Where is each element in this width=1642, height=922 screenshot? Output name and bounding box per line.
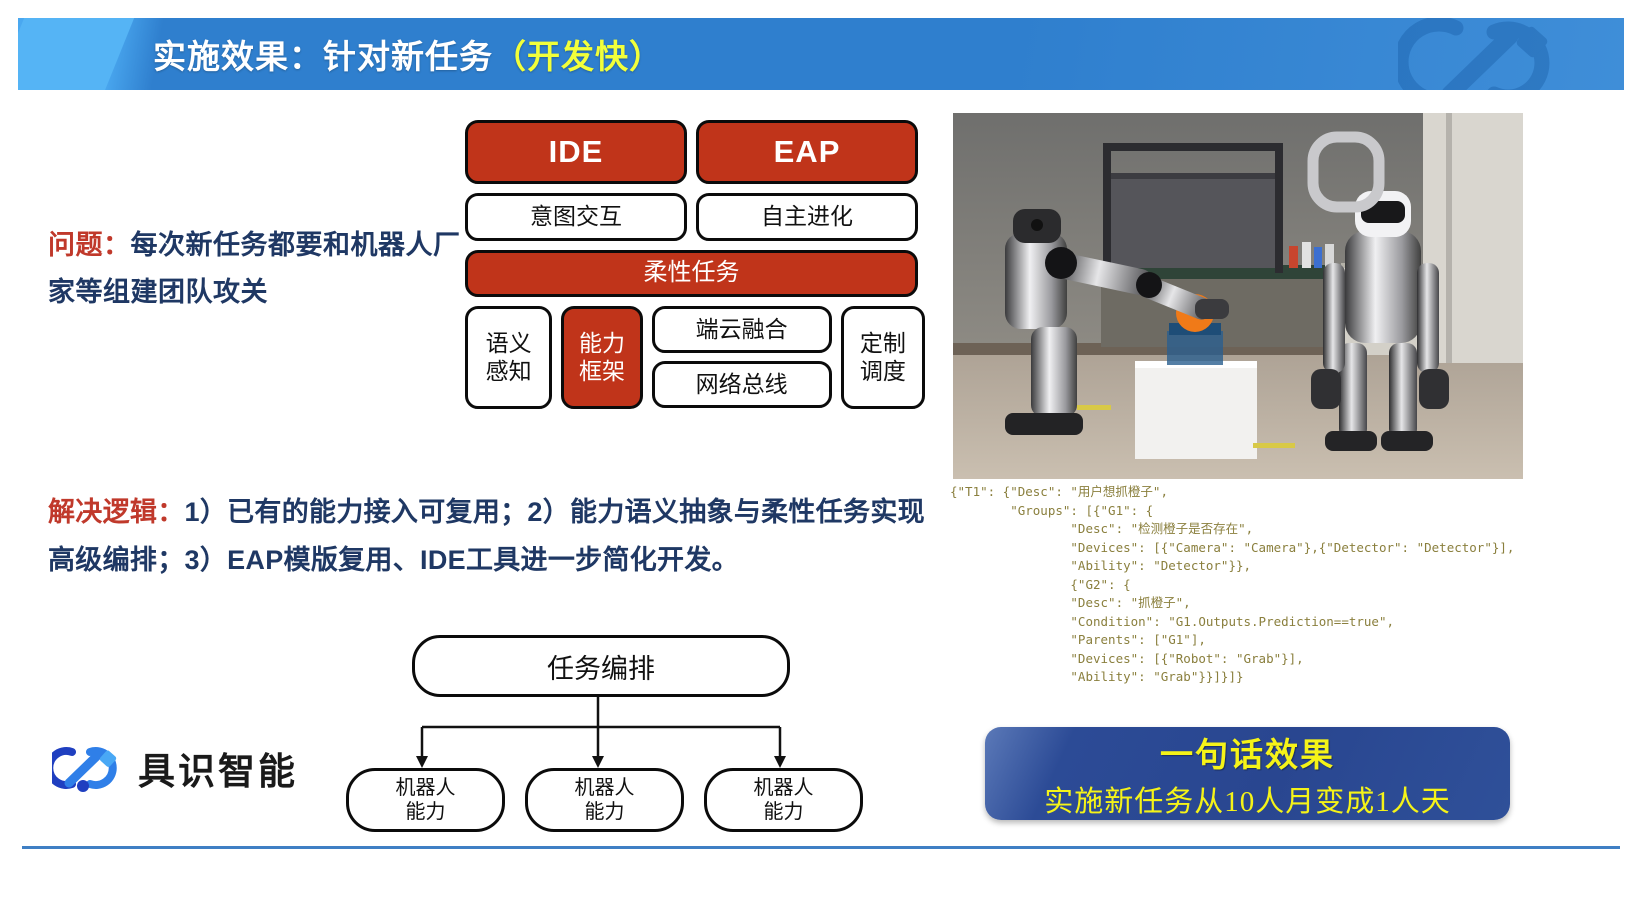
flow-node-robot-ability-1[interactable]: 机器人 能力	[346, 768, 505, 832]
flow-node-robot-ability-3[interactable]: 机器人 能力	[704, 768, 863, 832]
architecture-row-interaction: 意图交互 自主进化	[465, 193, 925, 241]
code-line: "Devices": [{"Robot": "Grab"}],	[950, 651, 1304, 666]
arch-cell-edge-cloud-fusion[interactable]: 端云融合	[652, 306, 832, 353]
brand-swirl-icon	[52, 740, 124, 796]
flow-node-robot-ability-2[interactable]: 机器人 能力	[525, 768, 684, 832]
solution-label: 解决逻辑：	[48, 497, 185, 527]
arch-cell-custom-scheduling[interactable]: 定制 调度	[841, 306, 925, 409]
brand-swirl-icon	[1398, 18, 1598, 90]
problem-label: 问题：	[48, 230, 131, 260]
arch-cell-eap[interactable]: EAP	[696, 120, 918, 184]
code-line: "Parents": ["G1"],	[950, 632, 1206, 647]
callout-subtitle: 实施新任务从10人月变成1人天	[1044, 778, 1451, 820]
page-title-main: 实施效果：针对新任务	[153, 38, 493, 75]
logo-text: 具识智能	[138, 741, 298, 795]
code-line: "Devices": [{"Camera": "Camera"},{"Detec…	[950, 540, 1514, 555]
arch-subcolumn-network: 端云融合 网络总线	[652, 306, 832, 409]
code-line: "Ability": "Detector"}},	[950, 558, 1251, 573]
page-title-highlight: （开发快）	[493, 38, 663, 75]
arch-cell-ide[interactable]: IDE	[465, 120, 687, 184]
task-json-code-block: {"T1": {"Desc": "用户想抓橙子", "Groups": [{"G…	[950, 483, 1550, 687]
problem-statement: 问题：每次新任务都要和机器人厂家等组建团队攻关	[48, 222, 478, 317]
architecture-row-tools: IDE EAP	[465, 120, 925, 184]
footer-divider	[22, 846, 1620, 849]
result-callout-badge: 一句话效果 实施新任务从10人月变成1人天	[985, 727, 1510, 820]
code-line: "Groups": [{"G1": {	[950, 503, 1153, 518]
solution-statement: 解决逻辑：1）已有的能力接入可复用；2）能力语义抽象与柔性任务实现高级编排；3）…	[48, 488, 948, 584]
arch-cell-semantic-perception[interactable]: 语义 感知	[465, 306, 552, 409]
code-line: "Desc": "抓橙子",	[950, 595, 1191, 610]
code-line: "Desc": "检测橙子是否存在",	[950, 521, 1253, 536]
arch-cell-intent-interaction[interactable]: 意图交互	[465, 193, 687, 241]
company-logo: 具识智能	[52, 740, 298, 796]
task-orchestration-flowchart: 任务编排 机器人 能力 机器人 能力 机器人 能力	[330, 605, 890, 805]
callout-title: 一句话效果	[1160, 728, 1335, 776]
header-banner: 实施效果：针对新任务（开发快）	[18, 18, 1624, 90]
architecture-row-foundation: 语义 感知 能力 框架 端云融合 网络总线 定制 调度	[465, 306, 925, 409]
arch-cell-network-bus[interactable]: 网络总线	[652, 361, 832, 408]
code-line: {"G2": {	[950, 577, 1131, 592]
architecture-diagram: IDE EAP 意图交互 自主进化 柔性任务 语义 感知 能力 框架 端云融合 …	[465, 120, 925, 418]
flow-node-task-orchestration[interactable]: 任务编排	[412, 635, 790, 697]
page-title: 实施效果：针对新任务（开发快）	[153, 30, 663, 78]
code-line: "Ability": "Grab"}}]}]}	[950, 669, 1244, 684]
arch-cell-flexible-task[interactable]: 柔性任务	[465, 250, 918, 297]
robot-demo-photo	[953, 113, 1523, 479]
architecture-row-flexible-task: 柔性任务	[465, 250, 925, 297]
arch-cell-ability-framework[interactable]: 能力 框架	[561, 306, 642, 409]
code-line: "Condition": "G1.Outputs.Prediction==tru…	[950, 614, 1394, 629]
arch-cell-self-evolution[interactable]: 自主进化	[696, 193, 918, 241]
code-line: {"T1": {"Desc": "用户想抓橙子",	[950, 484, 1168, 499]
